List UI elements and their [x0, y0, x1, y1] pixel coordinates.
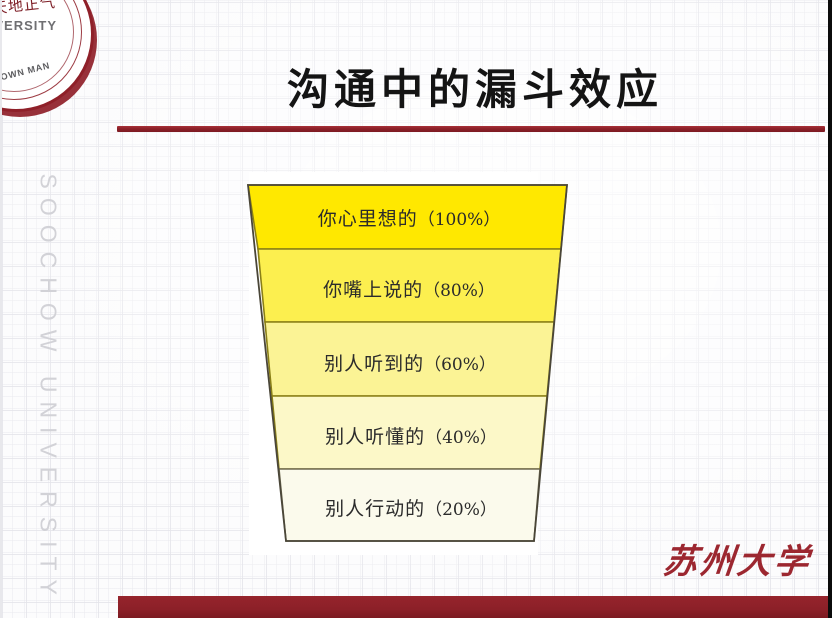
funnel-label-5-name: 别人行动的	[325, 498, 425, 520]
seal-english-name: UNIVERSITY	[0, 18, 74, 33]
funnel-label-4: 别人听懂的（40%）	[274, 422, 548, 449]
funnel-label-2: 你嘴上说的（80%）	[263, 275, 555, 302]
funnel-diagram: 你心里想的（100%） 你嘴上说的（80%） 别人听到的（60%） 别人听懂的（…	[241, 172, 581, 555]
funnel-label-4-name: 别人听懂的	[325, 426, 425, 448]
funnel-label-3-name: 别人听到的	[324, 353, 424, 375]
funnel-label-1-name: 你心里想的	[318, 208, 418, 230]
title-divider-rule	[117, 126, 825, 132]
funnel-label-3-pct: （60%）	[424, 355, 496, 375]
sidebar-university-name: SOOCHOW UNIVERSITY	[35, 174, 62, 434]
page-title: 沟通中的漏斗效应	[130, 56, 820, 117]
funnel-label-1-pct: （100%）	[418, 210, 501, 230]
funnel-label-1: 你心里想的（100%）	[259, 204, 559, 231]
right-edge-strip	[828, 0, 832, 618]
funnel-label-3: 别人听到的（60%）	[268, 349, 552, 376]
slide: 养天地正气 UNIVERSITY GROWN MAN SOOCHOW UNIVE…	[0, 0, 832, 618]
funnel-label-2-name: 你嘴上说的	[323, 279, 423, 301]
funnel-label-2-pct: （80%）	[423, 281, 495, 301]
brand-calligraphy-mark: 苏州大学	[652, 534, 822, 583]
funnel-label-4-pct: （40%）	[425, 428, 497, 448]
footer-bar	[118, 596, 832, 618]
left-edge-strip	[0, 0, 2, 618]
funnel-label-5-pct: （20%）	[425, 500, 497, 520]
soochow-university-seal-logo: 养天地正气 UNIVERSITY GROWN MAN	[0, 0, 96, 114]
funnel-label-5: 别人行动的（20%）	[280, 494, 542, 521]
